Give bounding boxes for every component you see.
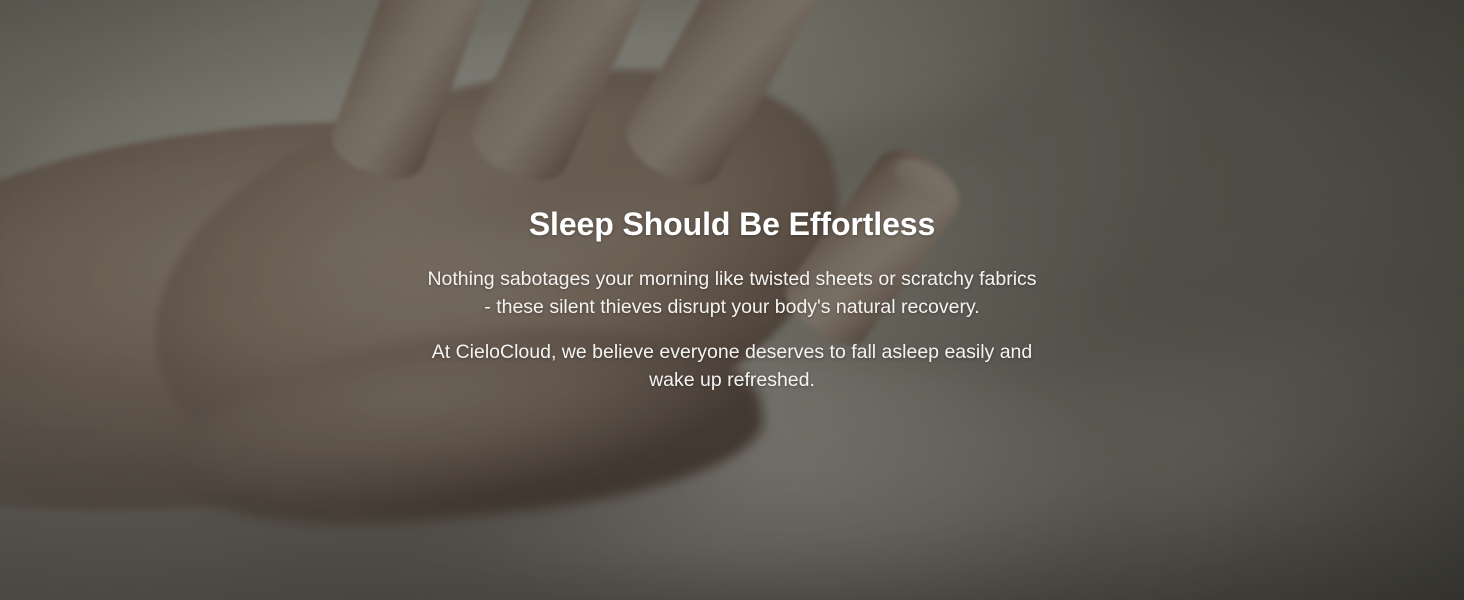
hero-banner: Sleep Should Be Effortless Nothing sabot… <box>0 0 1464 600</box>
banner-paragraph-2: At CieloCloud, we believe everyone deser… <box>422 339 1042 394</box>
banner-paragraph-1: Nothing sabotages your morning like twis… <box>422 266 1042 321</box>
banner-content: Sleep Should Be Effortless Nothing sabot… <box>0 0 1464 600</box>
content-inner: Sleep Should Be Effortless Nothing sabot… <box>422 205 1042 394</box>
banner-headline: Sleep Should Be Effortless <box>422 205 1042 243</box>
